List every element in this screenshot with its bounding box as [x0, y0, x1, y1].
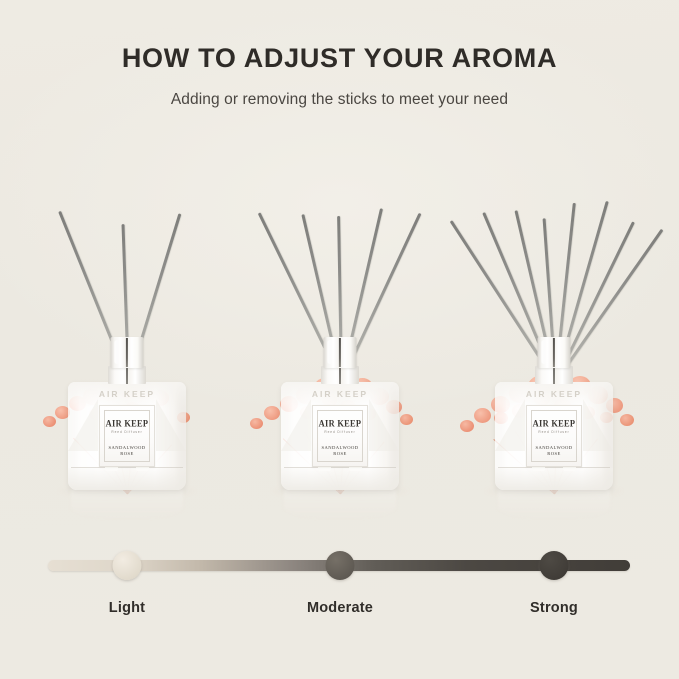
slider-knob-strong[interactable] [540, 551, 569, 580]
label-scent-line1: SANDALWOOD [108, 445, 145, 450]
intensity-slider[interactable]: Light Moderate Strong [0, 534, 679, 644]
bottle-base-line [71, 467, 183, 468]
product-bottle-strong: AIR KEEP AIR KEEP Reed Diffuser SANDALWO… [454, 152, 654, 512]
label-brand: AIR KEEP [533, 418, 576, 428]
header: HOW TO ADJUST YOUR AROMA Adding or remov… [0, 44, 679, 109]
product-bottle-moderate: AIR KEEP AIR KEEP Reed Diffuser SANDALWO… [240, 152, 440, 512]
bottle-neck-seam [126, 366, 128, 384]
label-brand: AIR KEEP [106, 418, 149, 428]
label-tagline: Reed Diffuser [111, 430, 142, 434]
bottle-label: AIR KEEP Reed Diffuser SANDALWOOD ROSE [312, 405, 368, 467]
label-scent-line2: ROSE [333, 451, 347, 456]
label-scent-line2: ROSE [120, 451, 134, 456]
bottle-base-line [498, 467, 610, 468]
diffuser-bottle: AIR KEEP AIR KEEP Reed Diffuser SANDALWO… [240, 337, 440, 512]
cap-seam [339, 338, 341, 367]
bottle-reflection [71, 489, 183, 519]
bottle-base [68, 468, 186, 490]
bottle-reflection [284, 489, 396, 519]
product-bottle-light: AIR KEEP AIR KEEP Reed Diffuser SANDALWO… [27, 152, 227, 512]
label-scent-line1: SANDALWOOD [321, 445, 358, 450]
cap-highlight [542, 340, 547, 364]
label-border: AIR KEEP Reed Diffuser SANDALWOOD ROSE [531, 410, 577, 462]
label-border: AIR KEEP Reed Diffuser SANDALWOOD ROSE [104, 410, 150, 462]
slider-label-light: Light [109, 600, 145, 616]
bottle-reflection [498, 489, 610, 519]
cap-highlight [328, 340, 333, 364]
cap-seam [126, 338, 128, 367]
label-brand: AIR KEEP [319, 418, 362, 428]
bottle-base-line [284, 467, 396, 468]
label-scent-line2: ROSE [547, 451, 561, 456]
slider-knob-light[interactable] [113, 551, 142, 580]
label-scent-line1: SANDALWOOD [535, 445, 572, 450]
bottle-embossed-brand: AIR KEEP [84, 389, 170, 399]
infographic-canvas: HOW TO ADJUST YOUR AROMA Adding or remov… [0, 0, 679, 679]
bottle-embossed-brand: AIR KEEP [511, 389, 597, 399]
bottle-neck-seam [339, 366, 341, 384]
bottle-embossed-brand: AIR KEEP [297, 389, 383, 399]
slider-knob-moderate[interactable] [326, 551, 355, 580]
bottle-label: AIR KEEP Reed Diffuser SANDALWOOD ROSE [99, 405, 155, 467]
label-scent: SANDALWOOD ROSE [535, 445, 572, 459]
label-scent: SANDALWOOD ROSE [108, 445, 145, 459]
diffuser-bottle: AIR KEEP AIR KEEP Reed Diffuser SANDALWO… [454, 337, 654, 512]
label-tagline: Reed Diffuser [324, 430, 355, 434]
page-title: HOW TO ADJUST YOUR AROMA [0, 44, 679, 74]
bottle-base [281, 468, 399, 490]
cap-highlight [115, 340, 120, 364]
bottle-label: AIR KEEP Reed Diffuser SANDALWOOD ROSE [526, 405, 582, 467]
cap-seam [553, 338, 555, 367]
label-border: AIR KEEP Reed Diffuser SANDALWOOD ROSE [317, 410, 363, 462]
page-subtitle: Adding or removing the sticks to meet yo… [0, 91, 679, 109]
slider-label-moderate: Moderate [307, 600, 373, 616]
bottle-neck-seam [553, 366, 555, 384]
label-scent: SANDALWOOD ROSE [321, 445, 358, 459]
diffuser-bottle: AIR KEEP AIR KEEP Reed Diffuser SANDALWO… [27, 337, 227, 512]
label-tagline: Reed Diffuser [538, 430, 569, 434]
bottle-base [495, 468, 613, 490]
slider-label-strong: Strong [530, 600, 578, 616]
